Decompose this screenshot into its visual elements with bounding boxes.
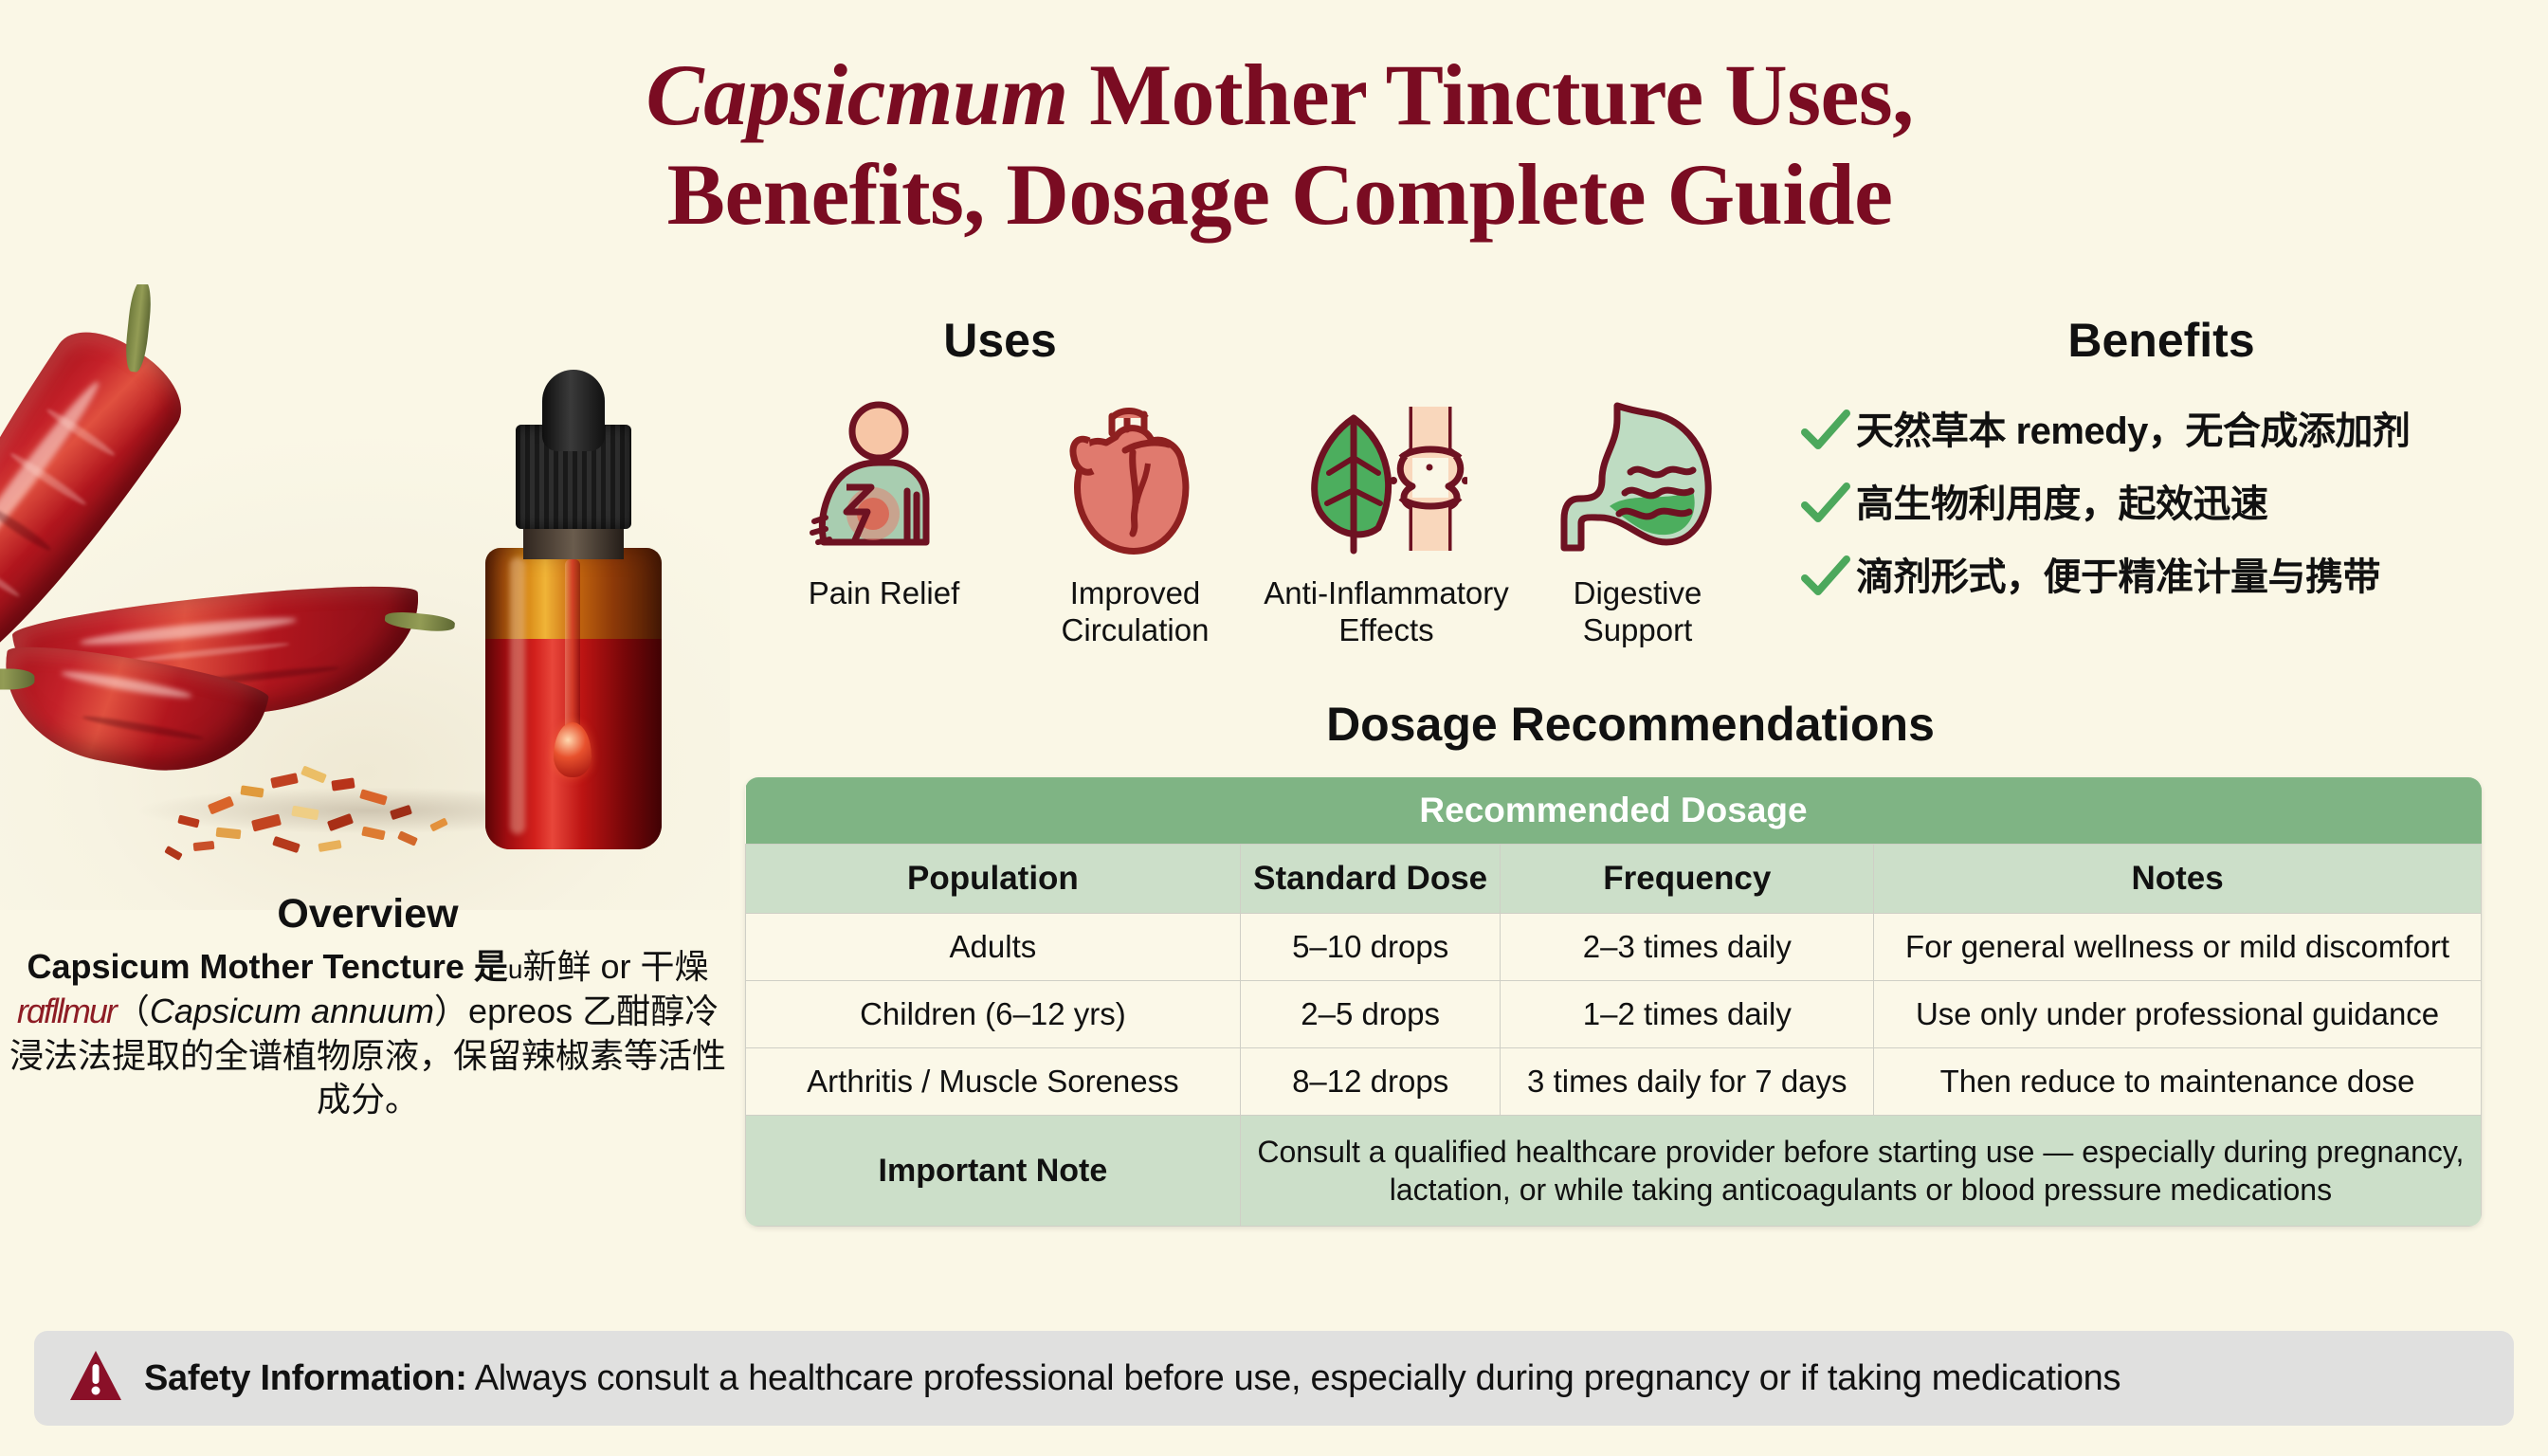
table-title: Recommended Dosage (746, 777, 2482, 845)
use-label-pain-relief: Pain Relief (809, 575, 960, 612)
cell-population: Arthritis / Muscle Soreness (746, 1048, 1241, 1116)
use-item-improved-circulation: ImprovedCirculation (1010, 391, 1261, 649)
safety-text: Safety Information: Always consult a hea… (144, 1358, 2120, 1399)
table-important-note-row: Important Note Consult a qualified healt… (746, 1116, 2482, 1227)
cell-notes: Use only under professional guidance (1874, 981, 2482, 1048)
benefits-list: 天然草本 remedy，无合成添加剂 高生物利用度，起效迅速 滴剂形式，便于精准… (1801, 409, 2548, 628)
overview-latin-name: Capsicum annuum (150, 992, 434, 1030)
bottle-highlight (510, 557, 525, 834)
check-icon (1801, 555, 1856, 604)
cell-notes: For general wellness or mild discomfort (1874, 914, 2482, 981)
benefit-item: 高生物利用度，起效迅速 (1801, 482, 2548, 531)
overview-t1-small: u (508, 955, 523, 984)
benefit-text: 高生物利用度，起效迅速 (1856, 482, 2268, 526)
use-label-improved-circulation: ImprovedCirculation (1062, 575, 1210, 649)
title-line1-rest: Mother Tincture Uses, (1068, 46, 1914, 143)
important-note-label: Important Note (746, 1116, 1241, 1227)
use-label-digestive-support: DigestiveSupport (1574, 575, 1702, 649)
bottle-dropper-bulb (542, 370, 605, 451)
cell-frequency: 1–2 times daily (1501, 981, 1874, 1048)
overview-glitch-text: rɑfllmur (17, 992, 116, 1030)
overview-t3: （ (116, 992, 150, 1030)
cell-population: Children (6–12 yrs) (746, 981, 1241, 1048)
overview-t2: 新鲜 or 干燥 (523, 947, 709, 986)
stomach-icon (1558, 391, 1718, 566)
title-line2: Benefits, Dosage Complete Guide (667, 146, 1893, 243)
safety-body: Always consult a healthcare professional… (467, 1358, 2121, 1398)
table-header-row: Population Standard Dose Frequency Notes (746, 845, 2482, 914)
benefit-item: 天然草本 remedy，无合成添加剂 (1801, 409, 2548, 458)
overview-t1: 是 (464, 947, 508, 986)
cell-standard-dose: 5–10 drops (1240, 914, 1501, 981)
cell-frequency: 3 times daily for 7 days (1501, 1048, 1874, 1116)
overview-heading: Overview (8, 891, 728, 937)
column-header-standard-dose: Standard Dose (1240, 845, 1501, 914)
use-item-digestive-support: DigestiveSupport (1512, 391, 1763, 649)
benefit-text: 天然草本 remedy，无合成添加剂 (1856, 409, 2410, 453)
use-item-pain-relief: Pain Relief (758, 391, 1010, 612)
overview-body: Capsicum Mother Tencture 是u新鲜 or 干燥rɑfll… (8, 945, 728, 1122)
cell-standard-dose: 2–5 drops (1240, 981, 1501, 1048)
table-row: Arthritis / Muscle Soreness 8–12 drops 3… (746, 1048, 2482, 1116)
cell-population: Adults (746, 914, 1241, 981)
cell-notes: Then reduce to maintenance dose (1874, 1048, 2482, 1116)
product-photo (0, 284, 730, 910)
title-italic-word: Capsicmum (646, 46, 1067, 143)
table-row: Children (6–12 yrs) 2–5 drops 1–2 times … (746, 981, 2482, 1048)
safety-label: Safety Information: (144, 1358, 467, 1398)
important-note-text: Consult a qualified healthcare provider … (1240, 1116, 2481, 1227)
back-pain-person-icon (809, 391, 960, 566)
infographic-page: Capsicmum Mother Tincture Uses, Benefits… (0, 0, 2548, 1456)
bottle-pipette (565, 559, 580, 739)
heart-icon (1065, 391, 1207, 566)
benefits-heading: Benefits (1934, 313, 2389, 368)
dropper-bottle (474, 370, 673, 863)
benefit-item: 滴剂形式，便于精准计量与携带 (1801, 555, 2548, 604)
overview-bold-lead: Capsicum Mother Tencture (27, 947, 464, 986)
uses-heading: Uses (787, 313, 1213, 368)
safety-bar: Safety Information: Always consult a hea… (34, 1331, 2514, 1426)
warning-triangle-icon (66, 1347, 125, 1410)
use-label-anti-inflammatory: Anti-InflammatoryEffects (1264, 575, 1509, 649)
page-title: Capsicmum Mother Tincture Uses, Benefits… (417, 45, 2142, 245)
column-header-frequency: Frequency (1501, 845, 1874, 914)
benefit-text: 滴剂形式，便于精准计量与携带 (1856, 555, 2380, 599)
check-icon (1801, 482, 1856, 531)
dosage-table: Recommended Dosage Population Standard D… (745, 777, 2482, 1227)
column-header-notes: Notes (1874, 845, 2482, 914)
chili-flakes-pile (159, 758, 472, 863)
column-header-population: Population (746, 845, 1241, 914)
check-icon (1801, 409, 1856, 458)
table-row: Adults 5–10 drops 2–3 times daily For ge… (746, 914, 2482, 981)
overview-section: Overview Capsicum Mother Tencture 是u新鲜 o… (8, 891, 728, 1122)
use-item-anti-inflammatory: Anti-InflammatoryEffects (1261, 391, 1512, 649)
leaf-joint-icon (1306, 391, 1467, 566)
cell-frequency: 2–3 times daily (1501, 914, 1874, 981)
uses-list: Pain Relief ImprovedCirculation (758, 391, 1763, 649)
dosage-heading: Dosage Recommendations (739, 697, 2521, 752)
cell-standard-dose: 8–12 drops (1240, 1048, 1501, 1116)
